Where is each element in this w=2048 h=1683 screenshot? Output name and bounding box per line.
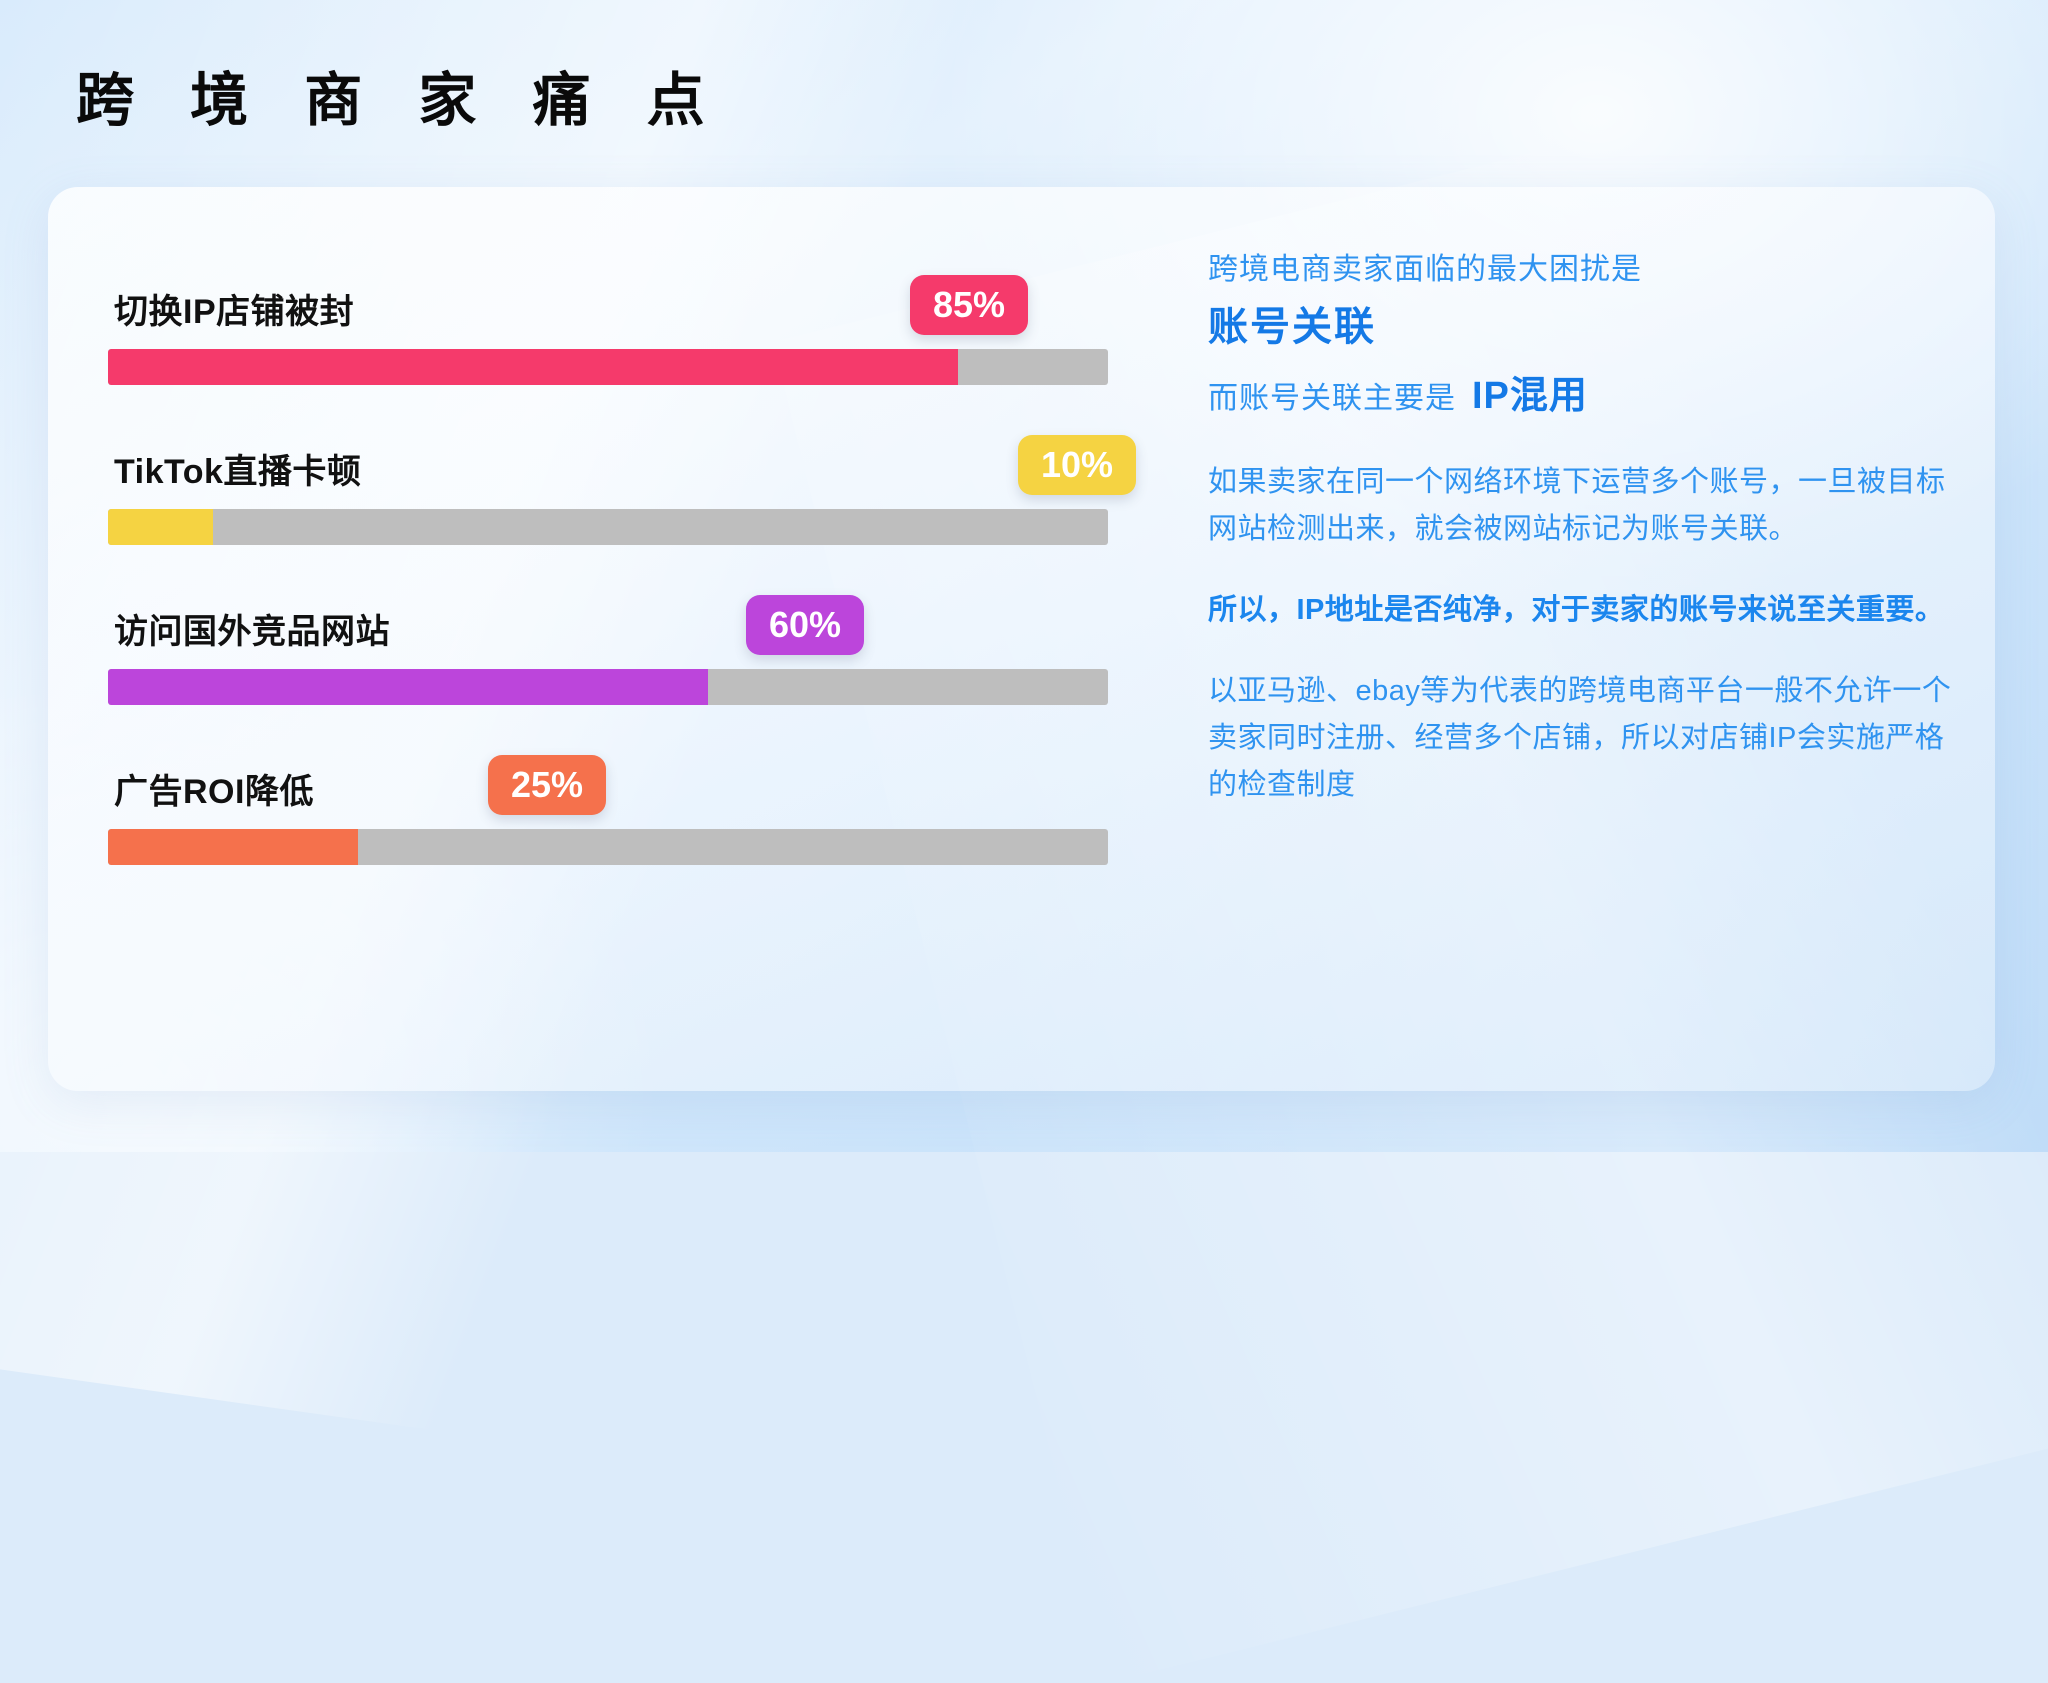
bar-track: [108, 349, 1108, 385]
explanation-panel: 跨境电商卖家面临的最大困扰是 账号关联 而账号关联主要是 IP混用 如果卖家在同…: [1208, 247, 1953, 809]
lead-secondary-line: 而账号关联主要是 IP混用: [1208, 368, 1953, 425]
bar-row: 切换IP店铺被封 85%: [108, 259, 1108, 385]
page-title: 跨 境 商 家 痛 点: [76, 72, 725, 130]
lead-keyword: 账号关联: [1208, 298, 1953, 356]
bar-label: TikTok直播卡顿: [114, 444, 361, 493]
bar-label: 广告ROI降低: [114, 764, 314, 813]
bar-track: [108, 509, 1108, 545]
lead-intro-text: 跨境电商卖家面临的最大困扰是: [1208, 247, 1953, 292]
bar-header: 广告ROI降低 25%: [108, 739, 1108, 817]
bar-header: TikTok直播卡顿 10%: [108, 419, 1108, 497]
paragraph-account-association: 如果卖家在同一个网络环境下运营多个账号，一旦被目标网站检测出来，就会被网站标记为…: [1208, 459, 1953, 553]
bar-track: [108, 829, 1108, 865]
bar-value-badge: 25%: [488, 755, 606, 815]
bar-header: 切换IP店铺被封 85%: [108, 259, 1108, 337]
bar-fill: [108, 509, 213, 545]
bar-value-badge: 60%: [746, 595, 864, 655]
bar-row: 访问国外竞品网站 60%: [108, 579, 1108, 705]
bar-value-badge: 85%: [910, 275, 1028, 335]
lead-secondary-prefix: 而账号关联主要是: [1208, 376, 1456, 421]
bar-label: 访问国外竞品网站: [114, 604, 390, 653]
paragraph-ip-purity: 所以，IP地址是否纯净，对于卖家的账号来说至关重要。: [1208, 587, 1953, 634]
lead-secondary-keyword: IP混用: [1472, 368, 1588, 425]
bar-value-badge: 10%: [1018, 435, 1136, 495]
bar-row: TikTok直播卡顿 10%: [108, 419, 1108, 545]
bar-fill: [108, 349, 958, 385]
bar-header: 访问国外竞品网站 60%: [108, 579, 1108, 657]
pain-point-bar-chart: 切换IP店铺被封 85% TikTok直播卡顿 10% 访问国外竞品网站 60%: [108, 259, 1160, 1029]
bar-track: [108, 669, 1108, 705]
bar-label: 切换IP店铺被封: [114, 284, 354, 333]
bar-fill: [108, 669, 708, 705]
content-card: 切换IP店铺被封 85% TikTok直播卡顿 10% 访问国外竞品网站 60%: [48, 187, 1995, 1091]
paragraph-platform-policy: 以亚马逊、ebay等为代表的跨境电商平台一般不允许一个卖家同时注册、经营多个店铺…: [1208, 668, 1953, 809]
bar-fill: [108, 829, 358, 865]
bar-row: 广告ROI降低 25%: [108, 739, 1108, 865]
